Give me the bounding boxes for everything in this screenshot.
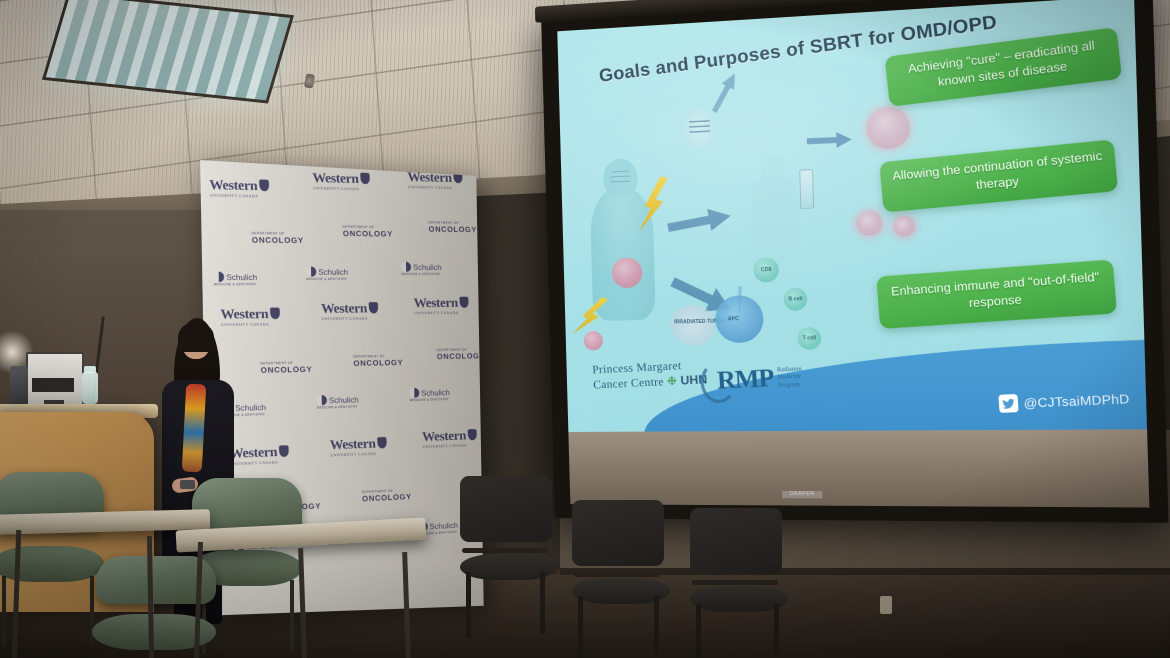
pm-line2: Cancer Centre bbox=[593, 377, 664, 392]
chair-arm bbox=[462, 548, 548, 553]
chair-leg bbox=[654, 596, 659, 654]
chair-leg bbox=[466, 572, 471, 638]
dna-strands-icon bbox=[689, 120, 710, 135]
chair-leg bbox=[540, 572, 545, 634]
flow-arrow-icon bbox=[665, 203, 733, 241]
t-cell-icon: T cell bbox=[797, 327, 821, 350]
princess-margaret-logo: Princess Margaret Cancer Centre ❉ UHN bbox=[592, 358, 708, 394]
b-cell-icon: B cell bbox=[784, 288, 808, 311]
presentation-slide: Goals and Purposes of SBRT for OMD/OPD I… bbox=[557, 0, 1147, 432]
callout-box-systemic-therapy: Allowing the continuation of systemic th… bbox=[879, 139, 1118, 212]
tumor-cell-cluster-icon bbox=[866, 106, 911, 150]
projector-screen: Goals and Purposes of SBRT for OMD/OPD I… bbox=[541, 0, 1168, 523]
flow-arrow-icon bbox=[807, 130, 852, 151]
patient-face-icon bbox=[610, 171, 631, 185]
apc-cell-icon bbox=[715, 295, 764, 343]
presentation-clicker-icon bbox=[180, 480, 195, 489]
rmp-logo: RMP Radiation Medicine Program bbox=[716, 363, 803, 396]
tumor-lesion-icon bbox=[584, 331, 604, 350]
apc-label: APC bbox=[728, 316, 739, 322]
tumor-cell-icon bbox=[856, 210, 883, 236]
podium-speaker bbox=[10, 366, 28, 404]
screen-blank-area bbox=[568, 429, 1149, 507]
chair-backrest bbox=[690, 508, 782, 574]
chair-arm bbox=[574, 572, 660, 577]
chair-leg bbox=[696, 604, 701, 658]
cd8-cell-icon: CD8 bbox=[753, 257, 779, 282]
syringe-icon bbox=[799, 169, 814, 209]
twitter-handle: @CJTsaiMDPhD bbox=[1024, 391, 1131, 410]
rmp-program-name: Radiation Medicine Program bbox=[777, 366, 803, 390]
tumor-cell-icon bbox=[893, 215, 915, 237]
rmp-name-line3: Program bbox=[778, 381, 803, 390]
chair-leg bbox=[2, 576, 6, 646]
chair-backrest bbox=[572, 500, 664, 566]
presentation-room-photo: Western UNIVERSITY CANADA Western UNIVER… bbox=[0, 0, 1170, 658]
water-bottle-icon bbox=[82, 372, 98, 404]
flow-arrow-icon bbox=[707, 70, 742, 116]
presenter-hair-front bbox=[178, 322, 214, 352]
podium-monitor-screen bbox=[32, 378, 74, 392]
treated-patient-body-icon bbox=[751, 174, 800, 260]
chair-leg bbox=[578, 596, 583, 658]
callout-box-immune-response: Enhancing immune and "out-of-field" resp… bbox=[876, 259, 1117, 329]
twitter-bird-icon bbox=[999, 394, 1019, 413]
chair-arm bbox=[692, 580, 778, 585]
screen-brand-label: DRAPER bbox=[782, 491, 823, 498]
uhn-flower-icon: ❉ bbox=[667, 376, 678, 389]
chair-backrest bbox=[460, 476, 552, 542]
electrical-outlet-icon bbox=[880, 596, 892, 614]
chair-leg bbox=[290, 580, 294, 650]
chair-leg bbox=[774, 604, 779, 654]
